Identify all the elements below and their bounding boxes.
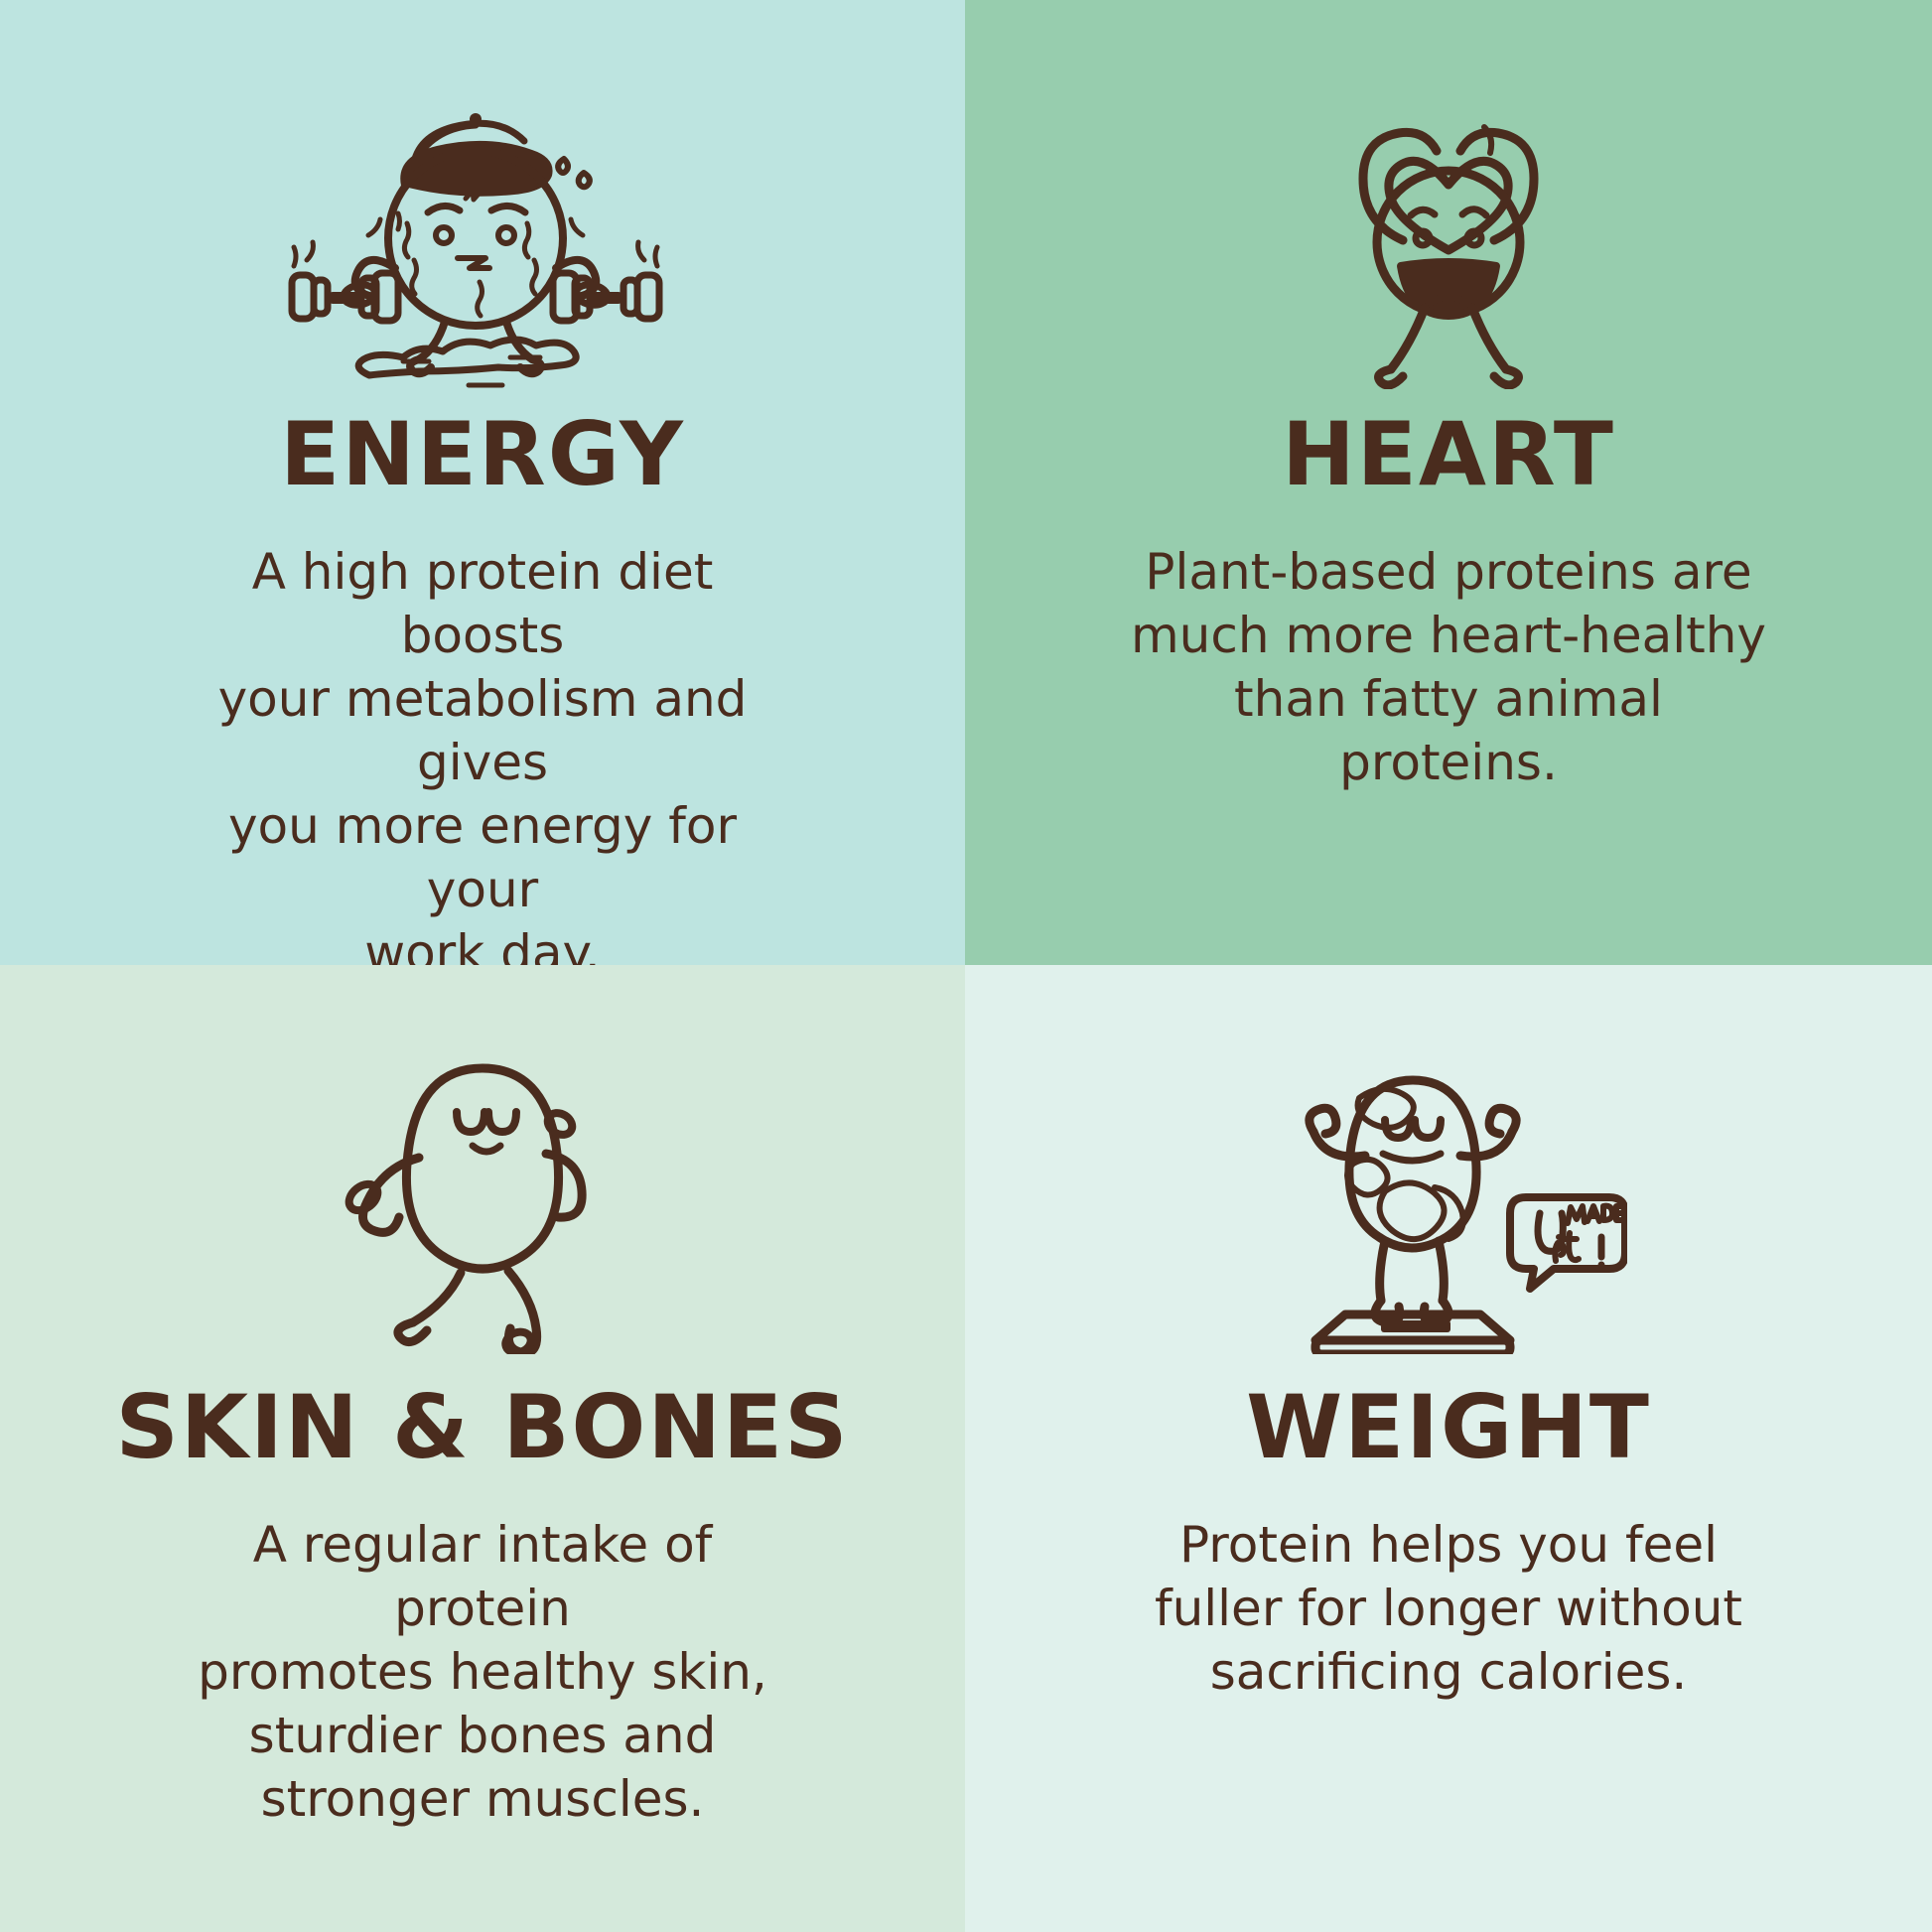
panel-body-energy: A high protein diet boosts your metaboli… (165, 540, 800, 965)
panel-body-heart: Plant-based proteins are much more heart… (1121, 540, 1776, 794)
heart-illustration (965, 0, 1932, 389)
panel-heart: HEART Plant-based proteins are much more… (965, 0, 1932, 965)
weight-illustration (965, 965, 1932, 1354)
panel-body-weight: Protein helps you feel fuller for longer… (1155, 1513, 1742, 1704)
panel-skin-bones: SKIN & BONES A regular intake of protein… (0, 965, 965, 1932)
protein-benefits-infographic: ENERGY A high protein diet boosts your m… (0, 0, 1932, 1932)
panel-title-energy: ENERGY (280, 411, 685, 498)
character-on-scale-icon (1270, 1046, 1627, 1354)
panel-body-skin-bones: A regular intake of protein promotes hea… (165, 1513, 800, 1831)
panel-weight: WEIGHT Protein helps you feel fuller for… (965, 965, 1932, 1932)
skin-bones-illustration (0, 965, 965, 1354)
panel-title-weight: WEIGHT (1246, 1384, 1651, 1471)
character-with-heart-hair-icon (1300, 91, 1597, 389)
energy-illustration (0, 0, 965, 389)
panel-title-heart: HEART (1282, 411, 1615, 498)
character-lifting-dumbbells-icon (274, 91, 691, 389)
character-stretching-icon (324, 1046, 641, 1354)
panel-title-skin-bones: SKIN & BONES (116, 1384, 850, 1471)
panel-energy: ENERGY A high protein diet boosts your m… (0, 0, 965, 965)
